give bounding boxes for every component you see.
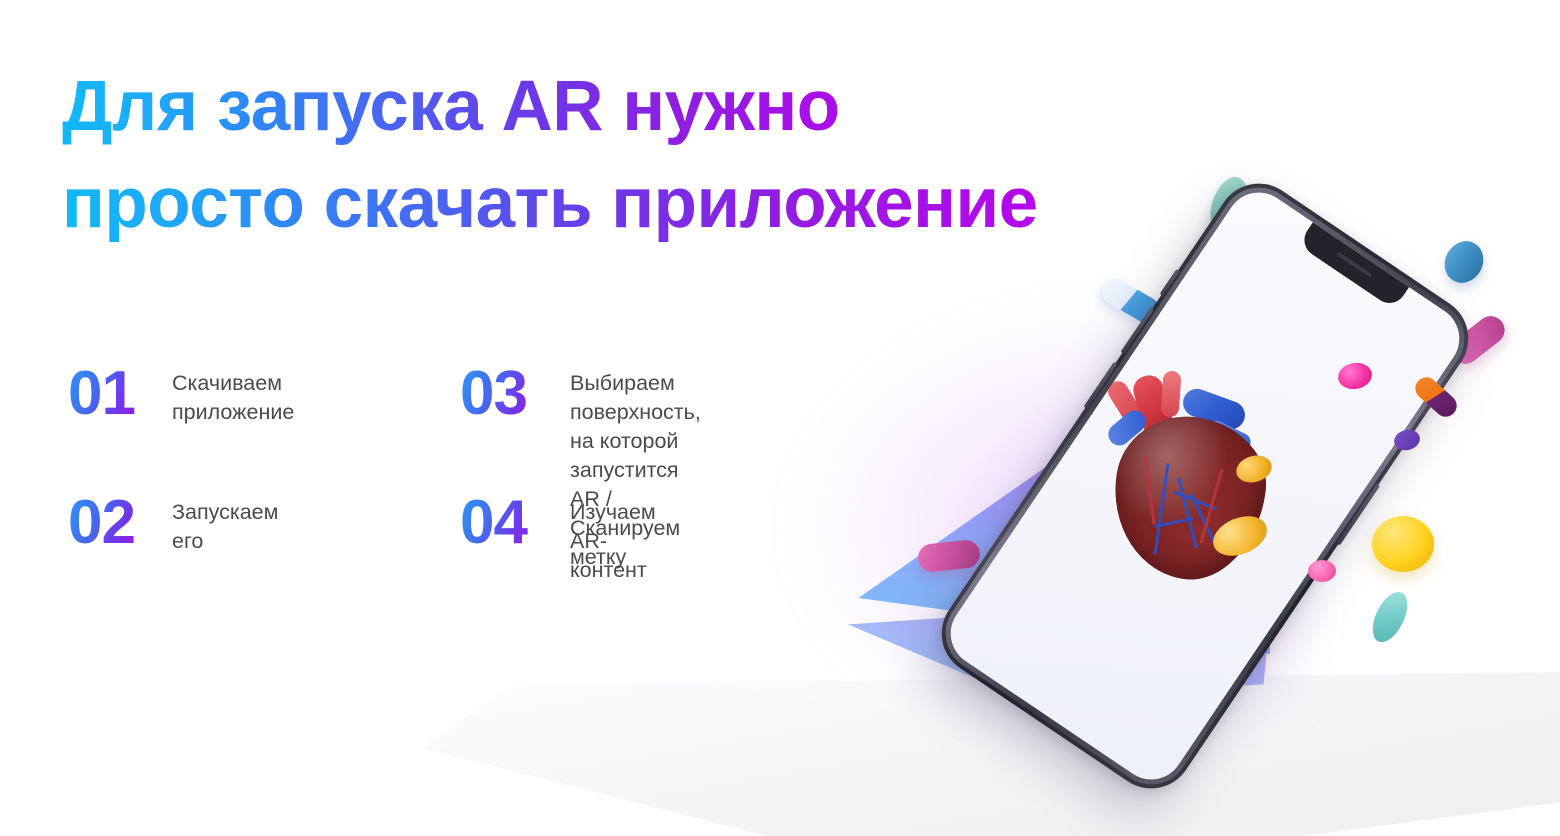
step-text-04: Изучаем AR-контент: [570, 492, 656, 585]
headline-line-1: Для запуска AR нужно: [62, 58, 1322, 155]
pill-teal-oval: [1366, 587, 1415, 648]
step-item-02: 02 Запускаем его: [68, 492, 278, 556]
step-number-02: 02: [68, 492, 150, 554]
headline-line-2-text: просто скачать приложение: [62, 164, 1038, 243]
step-item-04: 04 Изучаем AR-контент: [460, 492, 656, 585]
pill-blue-disc: [1441, 236, 1486, 288]
promo-banner: Для запуска AR нужно просто скачать прил…: [0, 0, 1560, 836]
step-item-01: 01 Скачиваем приложение: [68, 363, 294, 427]
step-text-01: Скачиваем приложение: [172, 363, 294, 427]
pill-pink-small: [1308, 560, 1336, 582]
step-number-04: 04: [460, 492, 548, 554]
pill-yellow-large: [1372, 516, 1434, 572]
headline-line-1-text: Для запуска AR нужно: [62, 67, 840, 146]
step-text-02: Запускаем его: [172, 492, 278, 556]
anatomical-heart-3d: [1090, 371, 1320, 601]
step-number-03: 03: [460, 363, 548, 425]
heart-vessel-aorta-branch-right: [1160, 370, 1181, 417]
step-number-01: 01: [68, 363, 150, 425]
ar-phone-scene: [1040, 150, 1560, 836]
